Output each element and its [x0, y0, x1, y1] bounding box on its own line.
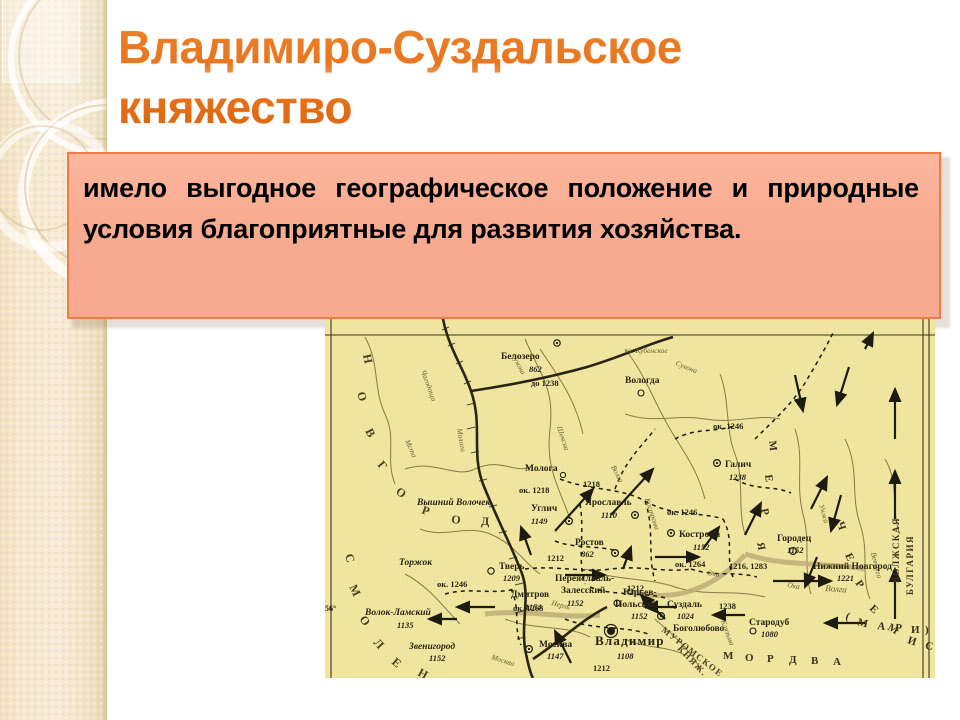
svg-text:1152: 1152 — [693, 542, 710, 552]
svg-text:И: И — [911, 624, 922, 636]
svg-text:1238: 1238 — [719, 601, 736, 611]
svg-text:Ока: Ока — [707, 568, 721, 579]
svg-text:Юрьев-: Юрьев- — [623, 588, 657, 598]
svg-text:Вышний Волочек: Вышний Волочек — [416, 497, 491, 508]
svg-text:Боголюбово: Боголюбово — [673, 623, 725, 634]
svg-text:Е: Е — [762, 474, 775, 485]
historical-map: Н О В Г О Р О Д С М О Л Е Н М Е Р Я — [325, 319, 935, 678]
svg-text:ок. 1246: ок. 1246 — [437, 579, 467, 589]
svg-text:Стародуб: Стародуб — [749, 617, 789, 628]
svg-text:1080: 1080 — [761, 629, 779, 639]
svg-text:Суздаль: Суздаль — [667, 600, 702, 610]
svg-text:1149: 1149 — [531, 516, 548, 526]
svg-text:О: О — [745, 652, 756, 664]
svg-text:1152: 1152 — [631, 611, 648, 621]
svg-text:Залесский: Залесский — [561, 585, 606, 596]
svg-text:ок. 1264: ок. 1264 — [675, 559, 706, 569]
svg-text:Волок-Ламский: Волок-Ламский — [364, 607, 431, 618]
svg-text:Москва: Москва — [539, 640, 572, 650]
svg-text:Переяславль-: Переяславль- — [555, 574, 614, 584]
svg-text:ок. 1246: ок. 1246 — [713, 421, 743, 431]
svg-text:1212: 1212 — [593, 663, 610, 673]
svg-text:М: М — [723, 650, 735, 662]
svg-text:Городец: Городец — [777, 534, 812, 544]
svg-text:1152: 1152 — [787, 545, 804, 555]
svg-text:1108: 1108 — [617, 651, 634, 661]
svg-text:Ростов: Ростов — [575, 538, 604, 548]
svg-text:1218: 1218 — [583, 479, 600, 489]
svg-text:1110: 1110 — [601, 510, 618, 520]
svg-text:ок. 1246: ок. 1246 — [667, 507, 697, 517]
svg-text:М: М — [766, 440, 779, 454]
svg-text:Кострома: Кострома — [679, 530, 720, 540]
svg-text:Углич: Углич — [531, 504, 558, 514]
svg-text:862: 862 — [581, 549, 595, 559]
band-texture — [0, 0, 107, 720]
svg-text:О: О — [451, 512, 465, 527]
svg-text:С: С — [925, 640, 935, 653]
svg-text:1024: 1024 — [677, 611, 694, 621]
svg-text:оз. Кубенское: оз. Кубенское — [625, 346, 668, 355]
svg-text:1209: 1209 — [503, 573, 521, 583]
svg-text:Ярославль: Ярославль — [585, 498, 632, 508]
svg-text:1216, 1283: 1216, 1283 — [729, 561, 767, 571]
svg-text:Р: Р — [767, 653, 776, 665]
svg-text:56°: 56° — [325, 604, 336, 613]
svg-text:1152: 1152 — [429, 653, 446, 663]
svg-text:Торжок: Торжок — [399, 558, 433, 568]
svg-text:Звенигород: Звенигород — [408, 641, 455, 652]
svg-text:В: В — [811, 655, 820, 667]
svg-text:Молога: Молога — [525, 464, 558, 474]
svg-text:Д: Д — [481, 514, 492, 528]
svg-text:1212: 1212 — [547, 553, 564, 563]
svg-text:1238: 1238 — [729, 472, 747, 482]
svg-text:ВОЛЖСКАЯ: ВОЛЖСКАЯ — [891, 517, 901, 583]
svg-text:А: А — [877, 620, 889, 633]
svg-text:ок. 1218: ок. 1218 — [519, 485, 549, 495]
svg-text:1147: 1147 — [547, 651, 564, 661]
svg-text:1154: 1154 — [525, 602, 542, 612]
svg-text:Галич: Галич — [725, 460, 752, 470]
callout-box: имело выгодное географическое положение … — [67, 152, 941, 319]
map-canvas: Н О В Г О Р О Д С М О Л Е Н М Е Р Я — [325, 319, 935, 678]
svg-text:Р: Р — [895, 622, 905, 635]
svg-text:до 1238: до 1238 — [531, 378, 559, 388]
page-title: Владимиро-Суздальское княжество — [118, 18, 818, 138]
svg-text:862: 862 — [529, 364, 543, 374]
svg-text:1221: 1221 — [837, 573, 854, 583]
decorative-left-band — [0, 0, 107, 720]
svg-text:Д: Д — [789, 654, 799, 666]
svg-text:А: А — [833, 656, 843, 668]
callout-text: имело выгодное географическое положение … — [83, 168, 919, 249]
svg-text:1135: 1135 — [397, 620, 414, 630]
band-top-panel — [2, 0, 80, 83]
svg-text:Тверь: Тверь — [499, 562, 525, 572]
svg-text:Волга: Волга — [825, 583, 848, 595]
svg-text:БУЛГАРИЯ: БУЛГАРИЯ — [905, 535, 915, 595]
svg-text:Польский: Польский — [615, 599, 659, 610]
svg-text:): ) — [925, 624, 931, 636]
band-edge — [102, 0, 107, 720]
svg-text:Дмитров: Дмитров — [511, 590, 549, 600]
svg-text:Вологда: Вологда — [625, 376, 660, 386]
slide: Владимиро-Суздальское княжество Владимир… — [0, 0, 960, 720]
